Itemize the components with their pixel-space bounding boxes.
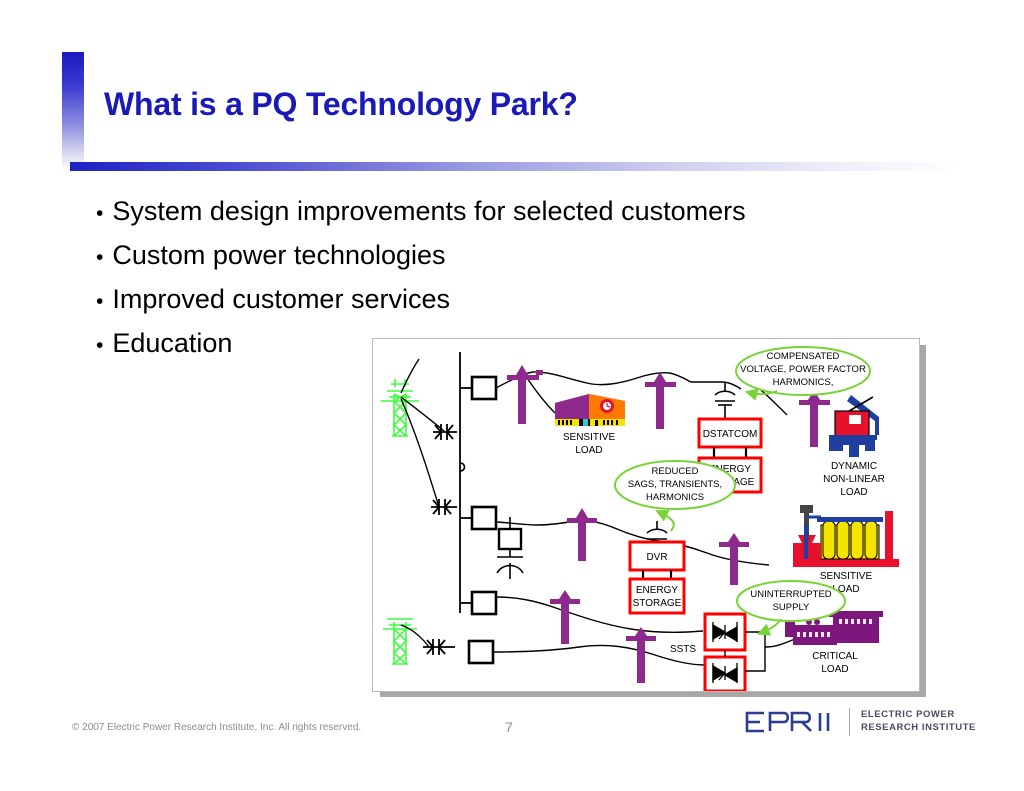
dstatcom-label: DSTATCOM <box>703 429 758 440</box>
bullet-text: Improved customer services <box>112 286 450 313</box>
distribution-pole-icon <box>799 390 830 447</box>
distribution-pole-icon <box>567 508 597 561</box>
distribution-pole-icon <box>719 533 749 585</box>
bullet-text: System design improvements for selected … <box>112 198 745 225</box>
callout-reduced-line3: HARMONICS <box>646 492 704 503</box>
critical-load-label-line2: LOAD <box>821 664 848 675</box>
callout-reduced-sags: REDUCED SAGS, TRANSIENTS, HARMONICS <box>615 461 735 531</box>
dynamic-nonlinear-load-crane-icon <box>829 395 879 457</box>
sensitive-load-mid-label-line1: SENSITIVE <box>820 571 873 582</box>
breaker-box-icon <box>472 592 496 614</box>
distribution-pole-icon <box>507 365 543 424</box>
breaker-box-icon <box>472 377 496 399</box>
bullet-item-3: • Improved customer services <box>96 286 926 313</box>
bullet-text: Education <box>112 330 232 357</box>
distribution-pole-icon <box>550 590 580 644</box>
copyright-notice: © 2007 Electric Power Research Institute… <box>72 722 361 733</box>
capacitor-symbol-icon <box>431 499 457 515</box>
logo-divider <box>849 708 850 736</box>
callout-reduced-line2: SAGS, TRANSIENTS, <box>628 479 722 490</box>
dstatcom-storage-connectors <box>714 447 746 458</box>
dynamic-nonlinear-load-label-line1: DYNAMIC <box>831 461 877 472</box>
sensitive-load-top-label-line2: LOAD <box>575 445 602 456</box>
transmission-tower-icon <box>381 379 419 436</box>
dvr-label: DVR <box>646 552 667 563</box>
critical-load-label-line1: CRITICAL <box>812 651 858 662</box>
callout-reduced-pointer <box>661 513 674 531</box>
sensitive-load-building-icon <box>555 394 625 426</box>
pq-technology-park-diagram: SENSITIVE LOAD DSTATCOM ENERGY STORAGE D… <box>372 338 920 692</box>
bullet-marker-icon: • <box>96 335 103 356</box>
dynamic-nonlinear-load-label-line3: LOAD <box>840 487 867 498</box>
transmission-tower-icon <box>383 619 417 664</box>
distribution-pole-icon <box>645 372 676 429</box>
title-accent-bar <box>62 52 84 170</box>
title-divider-rule <box>70 162 960 171</box>
bullet-item-2: • Custom power technologies <box>96 242 926 269</box>
dvr-storage-label-line1: ENERGY <box>636 585 679 596</box>
callout-uninterrupted-line2: SUPPLY <box>773 602 810 613</box>
callout-compensated: COMPENSATED VOLTAGE, POWER FACTOR HARMON… <box>736 347 870 395</box>
capacitor-symbol-icon <box>423 639 455 655</box>
capacitor-bank-box-icon <box>499 529 521 549</box>
sensitive-load-top-label-line1: SENSITIVE <box>563 432 616 443</box>
capacitor-symbol-icon <box>433 424 457 440</box>
epri-tagline-line1: ELECTRIC POWER <box>861 709 976 722</box>
callout-compensated-line1: COMPENSATED <box>767 351 840 362</box>
sensitive-load-plant-icon <box>793 505 899 567</box>
epri-logo: ELECTRIC POWER RESEARCH INSTITUTE <box>742 707 976 737</box>
callout-compensated-line2: VOLTAGE, POWER FACTOR <box>740 364 866 375</box>
bullet-text: Custom power technologies <box>112 242 445 269</box>
dstatcom-coupling-icon <box>715 382 735 419</box>
callout-reduced-line1: REDUCED <box>652 466 699 477</box>
bullet-marker-icon: • <box>96 291 103 312</box>
dynamic-nonlinear-load-label-line2: NON-LINEAR <box>823 474 885 485</box>
breaker-box-icon <box>472 507 496 529</box>
breaker-box-icon <box>469 641 493 663</box>
page-title: What is a PQ Technology Park? <box>104 86 924 123</box>
callout-uninterrupted-line1: UNINTERRUPTED <box>750 589 831 600</box>
bullet-marker-icon: • <box>96 247 103 268</box>
ssts-label: SSTS <box>670 644 696 655</box>
dvr-storage-label-line2: STORAGE <box>633 598 682 609</box>
feeder-branch-to-sensitive-load <box>525 375 555 413</box>
epri-tagline: ELECTRIC POWER RESEARCH INSTITUTE <box>861 709 976 734</box>
page-number: 7 <box>505 719 513 735</box>
epri-wordmark-icon <box>742 707 840 737</box>
distribution-pole-icon <box>626 627 656 683</box>
bullet-marker-icon: • <box>96 203 103 224</box>
bullet-item-1: • System design improvements for selecte… <box>96 198 926 225</box>
callout-uninterrupted-pointer <box>763 619 781 632</box>
callout-compensated-line3: HARMONICS, <box>773 377 834 388</box>
epri-tagline-line2: RESEARCH INSTITUTE <box>861 722 976 735</box>
